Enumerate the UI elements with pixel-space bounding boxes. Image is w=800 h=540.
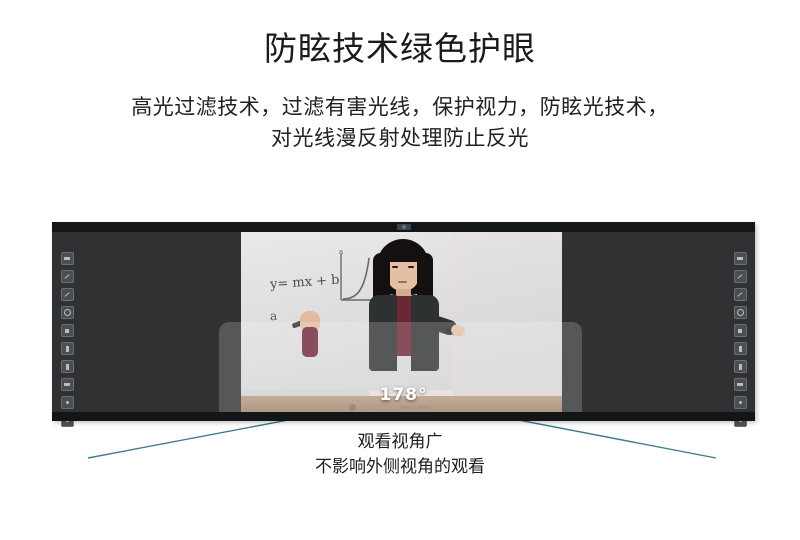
viewing-angle-badge: 178°: [52, 385, 755, 405]
eye-left: [392, 266, 398, 268]
bezel-top: [52, 222, 755, 232]
svg-text:a: a: [339, 250, 343, 256]
power-icon[interactable]: [61, 306, 74, 319]
volume-down-icon[interactable]: [61, 342, 74, 355]
forearm-sleeve: [302, 327, 318, 357]
mouth: [398, 281, 407, 283]
menu-icon[interactable]: [734, 252, 747, 265]
volume-down-icon[interactable]: [734, 342, 747, 355]
brightness-icon[interactable]: [734, 270, 747, 283]
camera-icon: [397, 224, 411, 230]
brand-model: SMART PANEL: [400, 405, 433, 410]
contrast-icon[interactable]: [61, 288, 74, 301]
volume-up-icon[interactable]: [61, 324, 74, 337]
eye-right: [408, 266, 414, 268]
footer-caption: 观看视角广 不影响外侧视角的观看: [0, 430, 800, 480]
page-title: 防眩技术绿色护眼: [0, 26, 800, 72]
volume-up-icon[interactable]: [734, 324, 747, 337]
brand-name: INTERACTIVE: [359, 405, 397, 411]
interactive-display-device: y= mx + b a a b: [52, 222, 755, 421]
input-source-icon[interactable]: [61, 360, 74, 373]
whiteboard-secondary: [459, 239, 562, 390]
jacket-left: [369, 295, 397, 371]
subtitle-line-1: 高光过滤技术，过滤有害光线，保护视力，防眩光技术，: [40, 92, 760, 123]
caption-line-2: 不影响外侧视角的观看: [0, 455, 800, 480]
hair-fringe: [385, 247, 421, 262]
whiteboard-equation-secondary: a: [269, 309, 277, 323]
power-icon[interactable]: [734, 306, 747, 319]
bezel-bottom: [52, 412, 755, 421]
jacket-right: [411, 295, 439, 371]
caption-line-1: 观看视角广: [0, 430, 800, 455]
contrast-icon[interactable]: [734, 288, 747, 301]
menu-icon[interactable]: [61, 252, 74, 265]
writing-hand: [296, 311, 326, 355]
subtitle-line-2: 对光线漫反射处理防止反光: [40, 123, 760, 154]
page-subtitle: 高光过滤技术，过滤有害光线，保护视力，防眩光技术， 对光线漫反射处理防止反光: [40, 92, 760, 154]
brightness-icon[interactable]: [61, 270, 74, 283]
brand-logo: INTERACTIVE SMART PANEL: [349, 403, 459, 412]
input-source-icon[interactable]: [734, 360, 747, 373]
brand-mark-icon: [349, 404, 356, 411]
